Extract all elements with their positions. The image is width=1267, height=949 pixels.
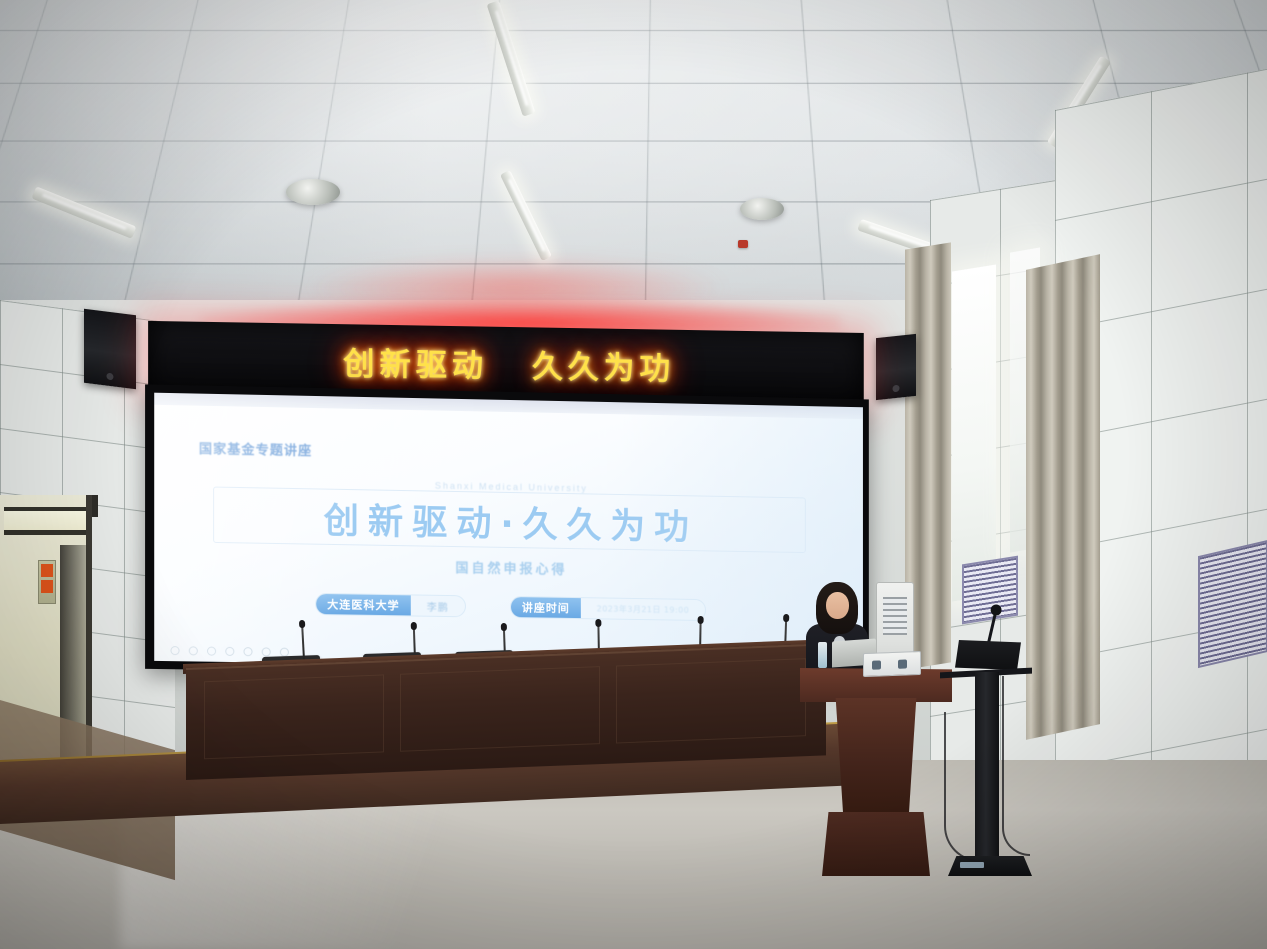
ceiling-speaker xyxy=(286,179,340,205)
previous-slide-icon[interactable] xyxy=(170,646,179,655)
slide-meta-time: 讲座时间 2023年3月21日 19:00 xyxy=(510,596,706,621)
stand-base xyxy=(948,856,1032,876)
podium-base xyxy=(822,812,930,876)
podium-control-panel[interactable] xyxy=(863,651,921,677)
more-options-icon[interactable] xyxy=(262,647,271,656)
lecture-hall-photo: 创新驱动 久久为功 国家基金专题讲座 Shanxi Medical Univer… xyxy=(0,0,1267,949)
wall-speaker-right xyxy=(876,334,916,400)
slide-top-band xyxy=(154,393,863,419)
led-banner-text-left: 创新驱动 xyxy=(343,338,488,385)
slide-meta-university-value: 李鹏 xyxy=(411,598,465,614)
floor-reflection xyxy=(120,790,820,949)
ceiling-speaker xyxy=(740,198,784,220)
slide-meta-university-tag: 大连医科大学 xyxy=(316,594,411,616)
fire-alarm-box-icon xyxy=(38,560,56,604)
wall-speaker-left xyxy=(84,309,136,389)
stand-head xyxy=(955,640,1021,670)
presentation-slide: 国家基金专题讲座 Shanxi Medical University 创新驱动·… xyxy=(154,393,863,671)
floor-cable xyxy=(1002,676,1030,856)
pointer-icon[interactable] xyxy=(207,647,216,656)
window-light xyxy=(952,265,996,602)
doorway-transom-window xyxy=(4,507,86,535)
slide-meta-row: 大连医科大学 李鹏 讲座时间 2023年3月21日 19:00 xyxy=(154,590,863,623)
water-bottle xyxy=(818,642,827,668)
wall-air-vent xyxy=(1198,540,1267,668)
floor-cable xyxy=(944,712,980,862)
slide-subtitle: 国自然申报心得 xyxy=(154,552,863,583)
projection-screen: 国家基金专题讲座 Shanxi Medical University 创新驱动·… xyxy=(145,384,869,679)
window-curtain xyxy=(1026,254,1100,740)
zoom-icon[interactable] xyxy=(243,647,252,656)
led-banner-text-right: 久久为功 xyxy=(532,341,675,388)
wall-air-vent xyxy=(962,556,1018,625)
slide-meta-university: 大连医科大学 李鹏 xyxy=(315,593,466,617)
pen-icon[interactable] xyxy=(189,646,198,655)
smoke-detector-icon xyxy=(738,240,748,248)
presenter-face xyxy=(826,592,849,619)
slide-meta-time-tag: 讲座时间 xyxy=(511,597,581,618)
slide-meta-time-value: 2023年3月21日 19:00 xyxy=(581,603,705,616)
slideshow-toolbar[interactable] xyxy=(170,646,288,657)
slide-kicker: 国家基金专题讲座 xyxy=(199,438,312,459)
slide-grid-icon[interactable] xyxy=(225,647,234,656)
podium-column xyxy=(828,698,924,818)
